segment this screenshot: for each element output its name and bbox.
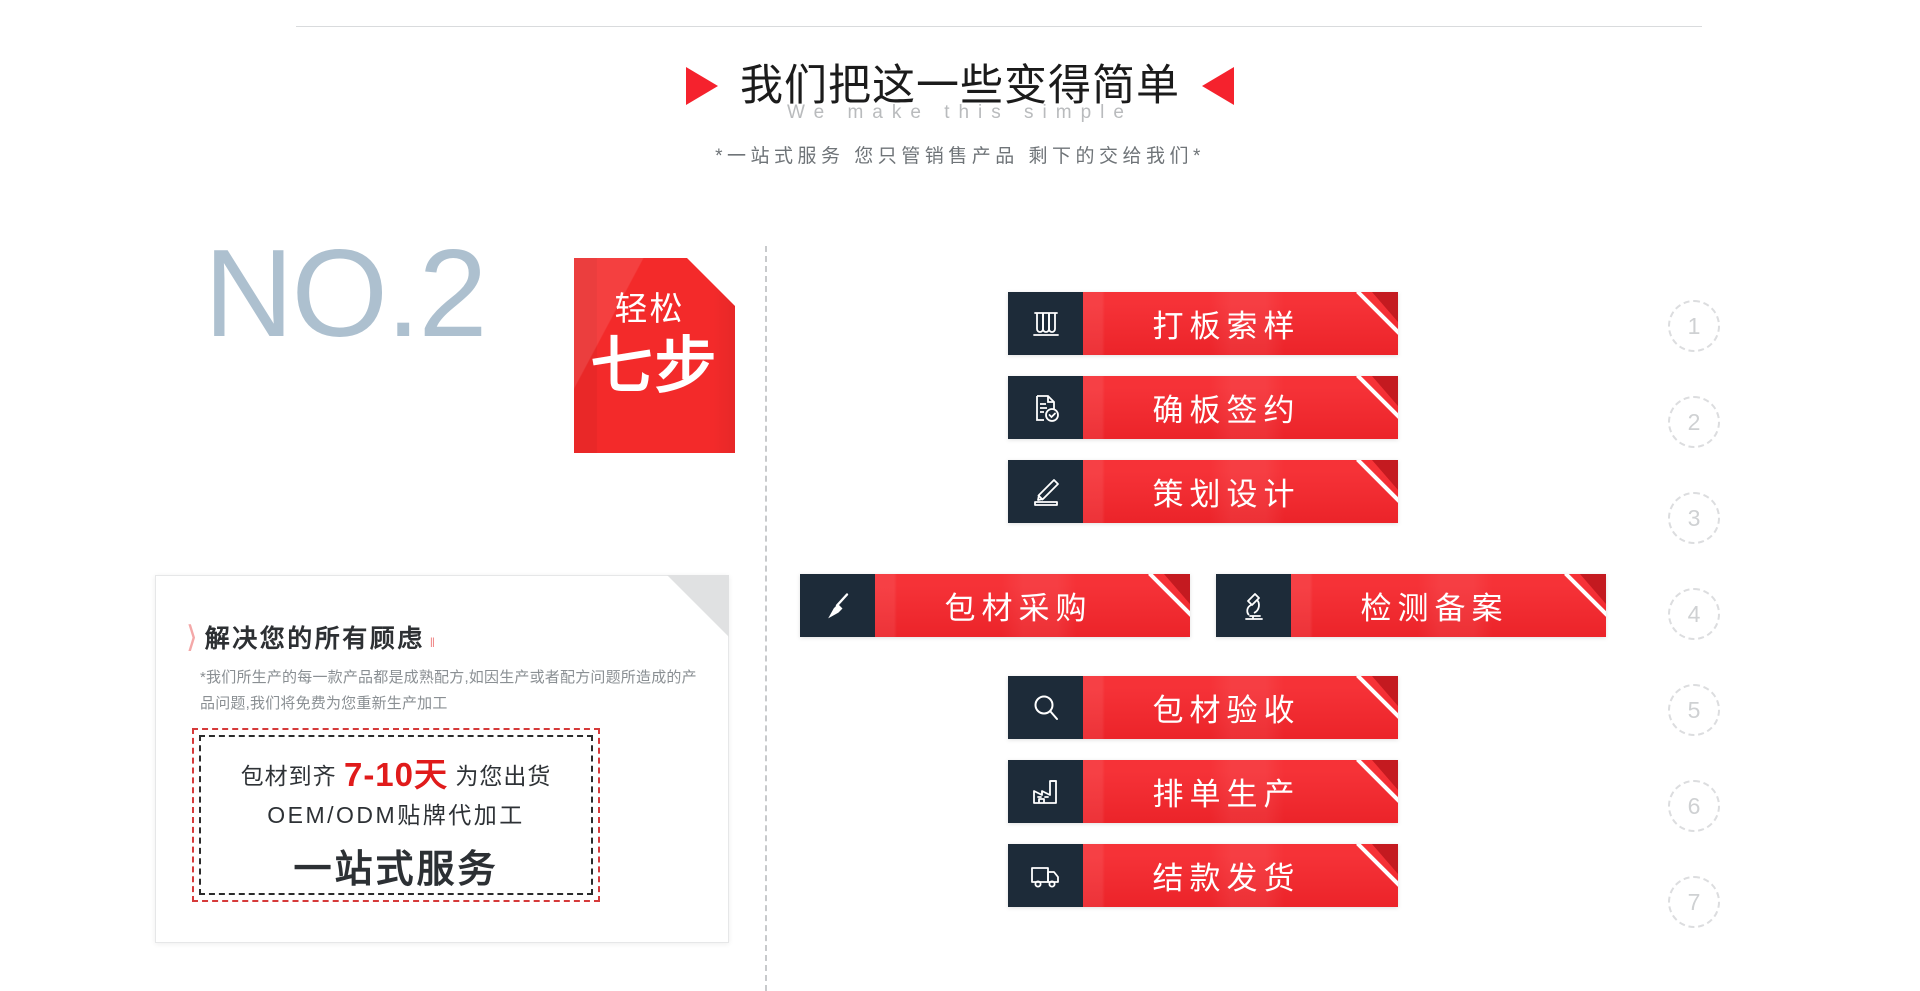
- step-label: 结款发货: [1147, 853, 1335, 898]
- step-number-6: 6: [1668, 780, 1720, 832]
- document-check-icon: [1008, 376, 1083, 439]
- step-number-1: 1: [1668, 300, 1720, 352]
- step-label: 包材采购: [939, 583, 1127, 628]
- step-number-3: 3: [1668, 492, 1720, 544]
- truck-icon: [1008, 844, 1083, 907]
- step-label: 打板索样: [1147, 301, 1335, 346]
- step-banner-7[interactable]: 排单生产: [1008, 760, 1398, 823]
- step-number-4: 4: [1668, 588, 1720, 640]
- step-banner-body: 结款发货: [1083, 844, 1398, 907]
- spatula-icon: [800, 574, 875, 637]
- step-number-7: 7: [1668, 876, 1720, 928]
- step-banner-body: 策划设计: [1083, 460, 1398, 523]
- step-banner-6[interactable]: 包材验收: [1008, 676, 1398, 739]
- factory-icon: [1008, 760, 1083, 823]
- step-label: 检测备案: [1355, 583, 1543, 628]
- step-number-2: 2: [1668, 396, 1720, 448]
- step-banner-body: 打板索样: [1083, 292, 1398, 355]
- pen-design-icon: [1008, 460, 1083, 523]
- step-label: 确板签约: [1147, 385, 1335, 430]
- step-banner-5[interactable]: 检测备案: [1216, 574, 1606, 637]
- steps-list: 打板索样 确板签约: [0, 0, 1920, 991]
- step-banner-body: 排单生产: [1083, 760, 1398, 823]
- step-number-5: 5: [1668, 684, 1720, 736]
- microscope-icon: [1216, 574, 1291, 637]
- step-banner-1[interactable]: 打板索样: [1008, 292, 1398, 355]
- step-banner-4[interactable]: 包材采购: [800, 574, 1190, 637]
- step-banner-body: 包材验收: [1083, 676, 1398, 739]
- test-tubes-icon: [1008, 292, 1083, 355]
- step-banner-2[interactable]: 确板签约: [1008, 376, 1398, 439]
- step-banner-3[interactable]: 策划设计: [1008, 460, 1398, 523]
- step-label: 排单生产: [1147, 769, 1335, 814]
- step-label: 策划设计: [1147, 469, 1335, 514]
- step-banner-8[interactable]: 结款发货: [1008, 844, 1398, 907]
- step-banner-body: 确板签约: [1083, 376, 1398, 439]
- step-label: 包材验收: [1147, 685, 1335, 730]
- step-banner-body: 包材采购: [875, 574, 1190, 637]
- magnifier-icon: [1008, 676, 1083, 739]
- step-banner-body: 检测备案: [1291, 574, 1606, 637]
